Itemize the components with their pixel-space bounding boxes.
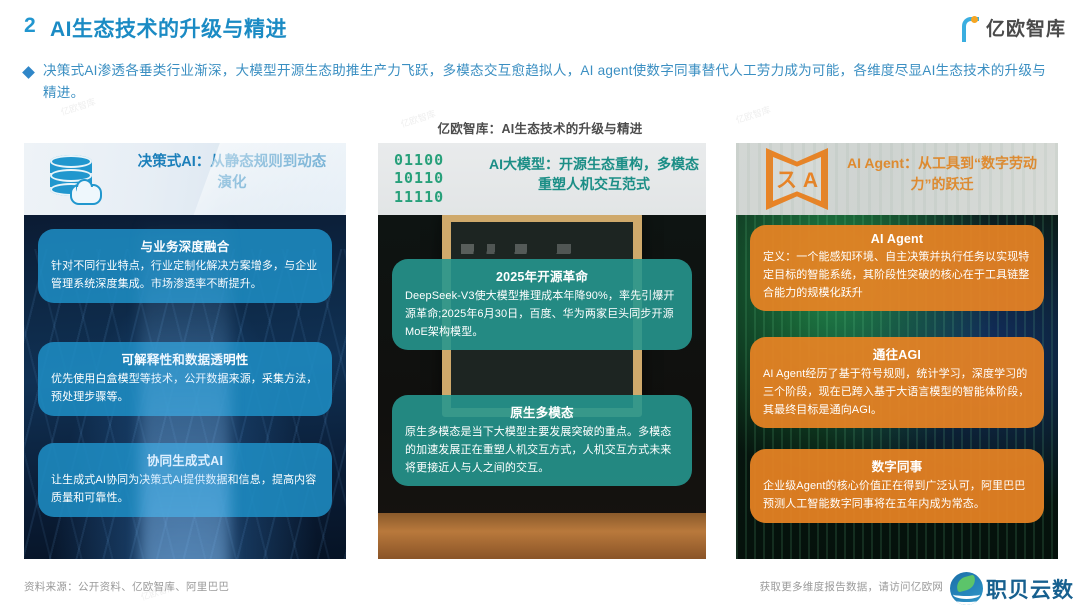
lead-paragraph: 决策式AI渗透各垂类行业渐深，大模型开源生态助推生产力飞跃，多模态交互愈趋拟人，… — [24, 60, 1059, 104]
card-title: 数字同事 — [763, 456, 1031, 475]
panel-large-model: 01100 10110 11110 AI大模型：开源生态重构，多模态重塑人机交互… — [378, 143, 706, 559]
card-digital-colleague: 数字同事 企业级Agent的核心价值正在得到广泛认可，阿里巴巴预测人工智能数字同… — [750, 449, 1044, 523]
card-title: 原生多模态 — [405, 402, 679, 421]
source-note: 资料来源：公开资料、亿欧智库、阿里巴巴 — [24, 579, 229, 594]
card-text: 企业级Agent的核心价值正在得到广泛认可，阿里巴巴预测人工智能数字同事将在五年… — [763, 478, 1031, 514]
more-info-note: 获取更多维度报告数据，请访问亿欧网（ — [760, 579, 954, 594]
slide-header: 2 AI生态技术的升级与精进 亿欧智库 — [0, 0, 1080, 55]
card-explainability: 可解释性和数据透明性 优先使用白盒模型等技术，公开数据来源，采集方法，预处理步骤… — [38, 342, 332, 416]
panel-ai-agent-body: AI Agent 定义：一个能感知环境、自主决策并执行任务以实现特定目标的智能系… — [736, 215, 1058, 559]
card-opensource-revolution: 2025年开源革命 DeepSeek-V3使大模型推理成本年降90%，率先引爆开… — [392, 259, 692, 350]
brand-logo: 亿欧智库 — [960, 14, 1066, 41]
card-text: AI Agent经历了基于符号规则，统计学习，深度学习的三个阶段，现在已跨入基于… — [763, 366, 1031, 419]
panel-decision-ai-title: 决策式AI：从静态规则到动态演化 — [132, 152, 332, 194]
panel-large-model-header: 01100 10110 11110 AI大模型：开源生态重构，多模态重塑人机交互… — [378, 143, 706, 215]
panel-large-model-title: AI大模型：开源生态重构，多模态重塑人机交互范式 — [488, 154, 700, 195]
card-text: DeepSeek-V3使大模型推理成本年降90%，率先引爆开源革命;2025年6… — [405, 288, 679, 341]
panel-group: 决策式AI：从静态规则到动态演化 与业务深度融合 针对不同行业特点，行业定制化解… — [24, 143, 1058, 559]
section-number: 2 — [24, 14, 36, 38]
slide-root: 2 AI生态技术的升级与精进 亿欧智库 决策式AI渗透各垂类行业渐深，大模型开源… — [0, 0, 1080, 608]
watermark-text: 职贝云数 — [986, 574, 1074, 604]
card-title: 通往AGI — [763, 344, 1031, 363]
desk-image — [378, 513, 706, 559]
panel-decision-ai-body: 与业务深度融合 针对不同行业特点，行业定制化解决方案增多，与企业管理系统深度集成… — [24, 215, 346, 559]
card-towards-agi: 通往AGI AI Agent经历了基于符号规则，统计学习，深度学习的三个阶段，现… — [750, 337, 1044, 428]
database-cloud-icon — [44, 153, 100, 205]
card-business-integration: 与业务深度融合 针对不同行业特点，行业定制化解决方案增多，与企业管理系统深度集成… — [38, 229, 332, 303]
panel-large-model-body: 2025年开源革命 DeepSeek-V3使大模型推理成本年降90%，率先引爆开… — [378, 215, 706, 559]
panel-decision-ai: 决策式AI：从静态规则到动态演化 与业务深度融合 针对不同行业特点，行业定制化解… — [24, 143, 346, 559]
binary-line: 10110 — [394, 169, 444, 187]
card-title: 协同生成式AI — [51, 450, 319, 469]
yiou-hook-logo-icon — [960, 15, 982, 41]
card-title: 可解释性和数据透明性 — [51, 349, 319, 368]
card-text: 定义：一个能感知环境、自主决策并执行任务以实现特定目标的智能系统，其阶段性突破的… — [763, 249, 1031, 302]
wave-leaf-logo-icon — [950, 572, 983, 605]
card-native-multimodal: 原生多模态 原生多模态是当下大模型主要发展突破的重点。多模态的加速发展正在重塑人… — [392, 395, 692, 486]
card-text: 针对不同行业特点，行业定制化解决方案增多，与企业管理系统深度集成。市场渗透率不断… — [51, 258, 319, 294]
panel-ai-agent: ス A AI Agent：从工具到“数字劳动力”的跃迁 AI Agent 定义：… — [736, 143, 1058, 559]
page-title: AI生态技术的升级与精进 — [50, 13, 287, 43]
panel-ai-agent-title: AI Agent：从工具到“数字劳动力”的跃迁 — [836, 153, 1048, 195]
binary-code-icon: 01100 10110 11110 — [394, 151, 444, 206]
diamond-bullet-icon — [22, 66, 35, 79]
chart-caption: 亿欧智库：AI生态技术的升级与精进 — [0, 118, 1080, 137]
card-collaborative-genai: 协同生成式AI 让生成式AI协同为决策式AI提供数据和信息，提高内容质量和可靠性… — [38, 443, 332, 517]
card-ai-agent-definition: AI Agent 定义：一个能感知环境、自主决策并执行任务以实现特定目标的智能系… — [750, 225, 1044, 311]
agent-bowtie-icon: ス A — [766, 148, 828, 210]
lead-text: 决策式AI渗透各垂类行业渐深，大模型开源生态助推生产力飞跃，多模态交互愈趋拟人，… — [43, 60, 1059, 104]
card-title: 2025年开源革命 — [405, 266, 679, 285]
brand-name: 亿欧智库 — [986, 14, 1066, 41]
slide-footer: 资料来源：公开资料、亿欧智库、阿里巴巴 获取更多维度报告数据，请访问亿欧网（ 职… — [0, 564, 1080, 608]
binary-line: 11110 — [394, 188, 444, 206]
panel-ai-agent-header: ス A AI Agent：从工具到“数字劳动力”的跃迁 — [736, 143, 1058, 215]
card-text: 原生多模态是当下大模型主要发展突破的重点。多模态的加速发展正在重塑人机交互方式，… — [405, 424, 679, 477]
panel-decision-ai-header: 决策式AI：从静态规则到动态演化 — [24, 143, 346, 215]
card-text: 优先使用白盒模型等技术，公开数据来源，采集方法，预处理步骤等。 — [51, 371, 319, 407]
binary-line: 01100 — [394, 151, 444, 169]
card-title: AI Agent — [763, 232, 1031, 246]
zhibei-watermark: 职贝云数 — [950, 572, 1074, 605]
agent-icon-glyph: ス A — [766, 148, 828, 210]
card-title: 与业务深度融合 — [51, 236, 319, 255]
card-text: 让生成式AI协同为决策式AI提供数据和信息，提高内容质量和可靠性。 — [51, 472, 319, 508]
